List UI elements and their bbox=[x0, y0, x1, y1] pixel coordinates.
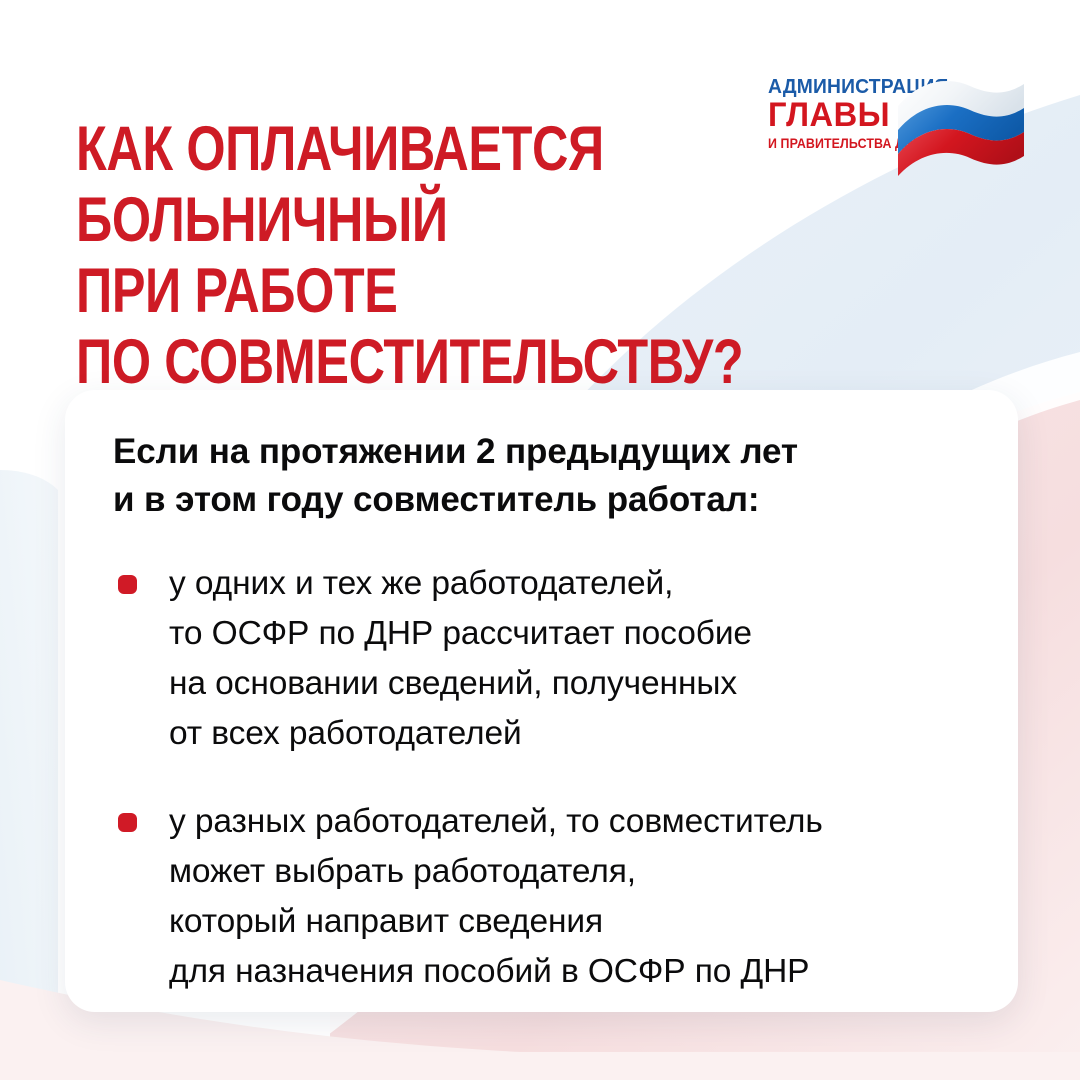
title-line-3: ПРИ РАБОТЕ bbox=[76, 256, 636, 327]
title-line-1: КАК ОПЛАЧИВАЕТСЯ bbox=[76, 114, 636, 185]
poster-header: КАК ОПЛАЧИВАЕТСЯ БОЛЬНИЧНЫЙ ПРИ РАБОТЕ П… bbox=[0, 0, 1080, 380]
square-bullet-icon bbox=[118, 575, 137, 594]
bullet-text-2: у разных работодателей, то совместитель … bbox=[169, 797, 992, 997]
russian-tricolor-flag-icon bbox=[896, 72, 1026, 176]
title-line-4: ПО СОВМЕСТИТЕЛЬСТВУ? bbox=[76, 327, 636, 398]
bullet-1-line-4: от всех работодателей bbox=[169, 709, 992, 759]
intro-line-1: Если на протяжении 2 предыдущих лет bbox=[113, 428, 992, 476]
page-title: КАК ОПЛАЧИВАЕТСЯ БОЛЬНИЧНЫЙ ПРИ РАБОТЕ П… bbox=[76, 114, 636, 398]
bullet-2-line-3: который направит сведения bbox=[169, 897, 992, 947]
infographic-poster: КАК ОПЛАЧИВАЕТСЯ БОЛЬНИЧНЫЙ ПРИ РАБОТЕ П… bbox=[0, 0, 1080, 1080]
bullet-text-1: у одних и тех же работодателей, то ОСФР … bbox=[169, 559, 992, 759]
intro-line-2: и в этом году совместитель работал: bbox=[113, 476, 992, 524]
bullet-2-line-2: может выбрать работодателя, bbox=[169, 847, 992, 897]
list-item: у разных работодателей, то совместитель … bbox=[113, 797, 992, 997]
bullet-2-line-4: для назначения пособий в ОСФР по ДНР bbox=[169, 947, 992, 997]
card-content: Если на протяжении 2 предыдущих лет и в … bbox=[113, 428, 992, 997]
intro-text: Если на протяжении 2 предыдущих лет и в … bbox=[113, 428, 992, 524]
list-item: у одних и тех же работодателей, то ОСФР … bbox=[113, 559, 992, 759]
organization-logo: АДМИНИСТРАЦИЯ ГЛАВЫ И ПРАВИТЕЛЬСТВА ДНР bbox=[768, 76, 1018, 180]
bullet-list: у одних и тех же работодателей, то ОСФР … bbox=[113, 559, 992, 997]
content-card: Если на протяжении 2 предыдущих лет и в … bbox=[65, 390, 1018, 1012]
bullet-1-line-3: на основании сведений, полученных bbox=[169, 659, 992, 709]
title-line-2: БОЛЬНИЧНЫЙ bbox=[76, 185, 636, 256]
bullet-1-line-2: то ОСФР по ДНР рассчитает пособие bbox=[169, 609, 992, 659]
square-bullet-icon bbox=[118, 813, 137, 832]
bullet-1-line-1: у одних и тех же работодателей, bbox=[169, 559, 992, 609]
bullet-2-line-1: у разных работодателей, то совместитель bbox=[169, 797, 992, 847]
